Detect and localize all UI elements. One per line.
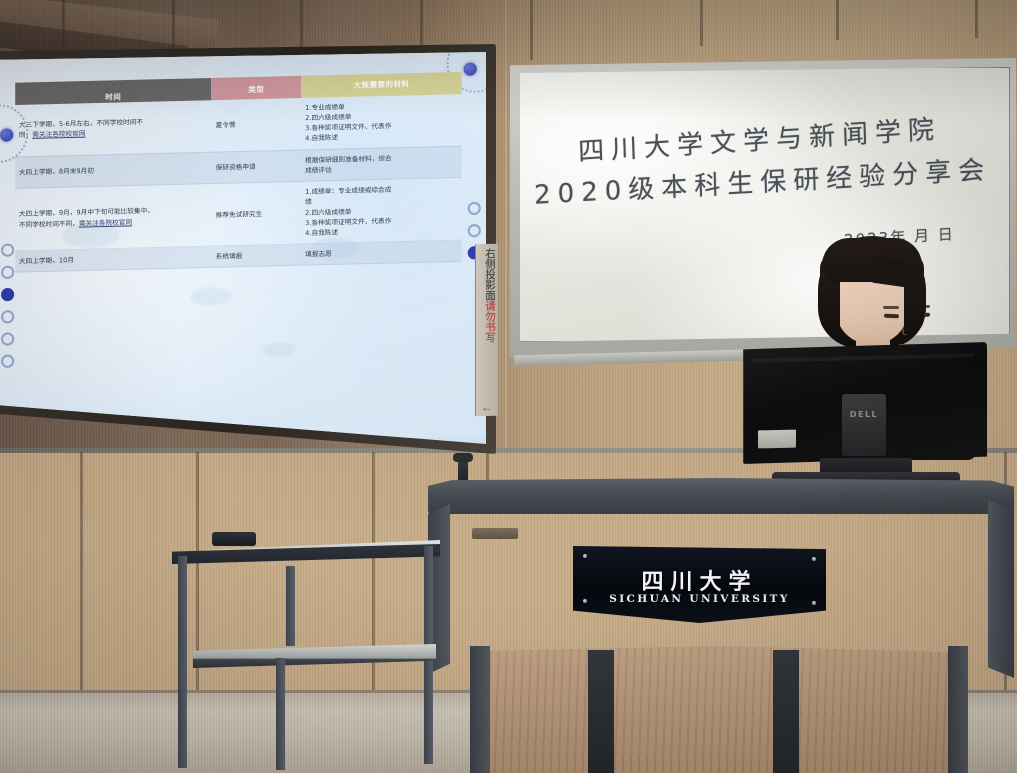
rail-dot-icon — [1, 243, 14, 256]
screen-surface: 时间 类型 大致需要的材料 — [0, 52, 486, 444]
nameplate-chinese: 四川大学 — [573, 564, 826, 596]
wall-seam — [700, 0, 703, 46]
cell-materials: 1.专业成绩单 2.四六级成绩单 3.各种奖项证明文件、代表作 4.自我陈述 — [301, 94, 462, 150]
wall-seam — [530, 0, 533, 60]
rail-dot-icon — [1, 310, 14, 323]
university-nameplate: 四川大学 SICHUAN UNIVERSITY — [573, 546, 826, 623]
eyebrow — [883, 306, 899, 309]
lectern-frame-right — [988, 500, 1014, 678]
cart-lower-shelf — [188, 644, 436, 668]
rail-dot-icon — [1, 355, 14, 368]
dell-logo-icon: DELL — [842, 410, 886, 419]
screw-icon — [583, 554, 587, 558]
lectern-leg — [948, 646, 968, 773]
cell-materials: 根据保研细则准备材料，综合 成绩评估 — [301, 146, 462, 182]
cell-type: 保研资格申请 — [212, 150, 301, 184]
monitor-rear-panel: DELL — [742, 342, 987, 464]
table-row: 大四上学期，9月，9月中下旬可能比较集中， 不同学校时间不同，需关注各院校官网 … — [15, 178, 462, 252]
hair-fringe — [822, 238, 922, 282]
projection-warning-text: 右侧投影面请勿书写 — [477, 248, 495, 398]
cell-time: 大四上学期，9月，9月中下旬可能比较集中， 不同学校时间不同，需关注各院校官网 — [15, 184, 212, 252]
monitor-vent — [752, 353, 974, 362]
nameplate-english: SICHUAN UNIVERSITY — [573, 593, 826, 605]
rail-dot-icon — [467, 224, 480, 237]
cell-time: 大三下学期，5-6月左右，不同学校时间不 同，需关注各院校官网 — [15, 100, 212, 157]
eye — [884, 314, 899, 319]
lectern-base-panel — [474, 646, 964, 773]
cell-time: 大四上学期，8月末9月初 — [15, 152, 212, 189]
projection-screen[interactable]: 时间 类型 大致需要的材料 — [0, 44, 496, 454]
rail-dot-icon — [1, 266, 14, 279]
cart-leg — [178, 556, 187, 768]
slide-table: 时间 类型 大致需要的材料 — [15, 72, 462, 273]
wall-seam — [80, 452, 83, 692]
cell-materials: 1.成绩单：专业成绩或综合成 绩 2.四六级成绩单 3.各种奖项证明文件、代表作… — [301, 178, 462, 245]
wall-seam — [505, 0, 507, 470]
lectern-brand-badge — [472, 528, 518, 539]
cell-type: 系统填报 — [212, 244, 301, 268]
lecture-room-photo: 时间 类型 大致需要的材料 — [0, 0, 1017, 773]
lectern-gap — [773, 650, 799, 773]
left-arrow-icon: ← — [481, 400, 493, 414]
lectern[interactable]: 四川大学 SICHUAN UNIVERSITY — [428, 478, 1014, 773]
wall-seam — [975, 0, 978, 38]
lectern-leg — [470, 646, 490, 773]
monitor-spec-label — [758, 430, 796, 449]
wall-seam — [836, 0, 839, 40]
presentation-slide: 时间 类型 大致需要的材料 — [0, 52, 486, 444]
equipment-cart[interactable] — [172, 540, 440, 773]
left-dot-rail — [0, 243, 14, 368]
cell-type: 夏令营 — [212, 98, 301, 152]
cell-type: 推荐免试研究生 — [212, 181, 301, 246]
cart-leg — [276, 658, 285, 770]
screw-icon — [812, 557, 816, 561]
cart-device — [212, 532, 256, 546]
cell-materials: 填报志愿 — [301, 240, 462, 265]
column-header-type: 类型 — [212, 76, 301, 100]
lectern-gap — [588, 650, 614, 773]
cart-leg — [286, 566, 295, 646]
rail-dot-icon — [467, 202, 480, 215]
monitor-stand-mount: DELL — [842, 394, 886, 456]
rail-dot-icon — [1, 288, 14, 301]
cell-time: 大四上学期，10月 — [15, 246, 212, 272]
desktop-monitor[interactable]: DELL — [742, 342, 987, 492]
rail-dot-icon — [1, 332, 14, 345]
